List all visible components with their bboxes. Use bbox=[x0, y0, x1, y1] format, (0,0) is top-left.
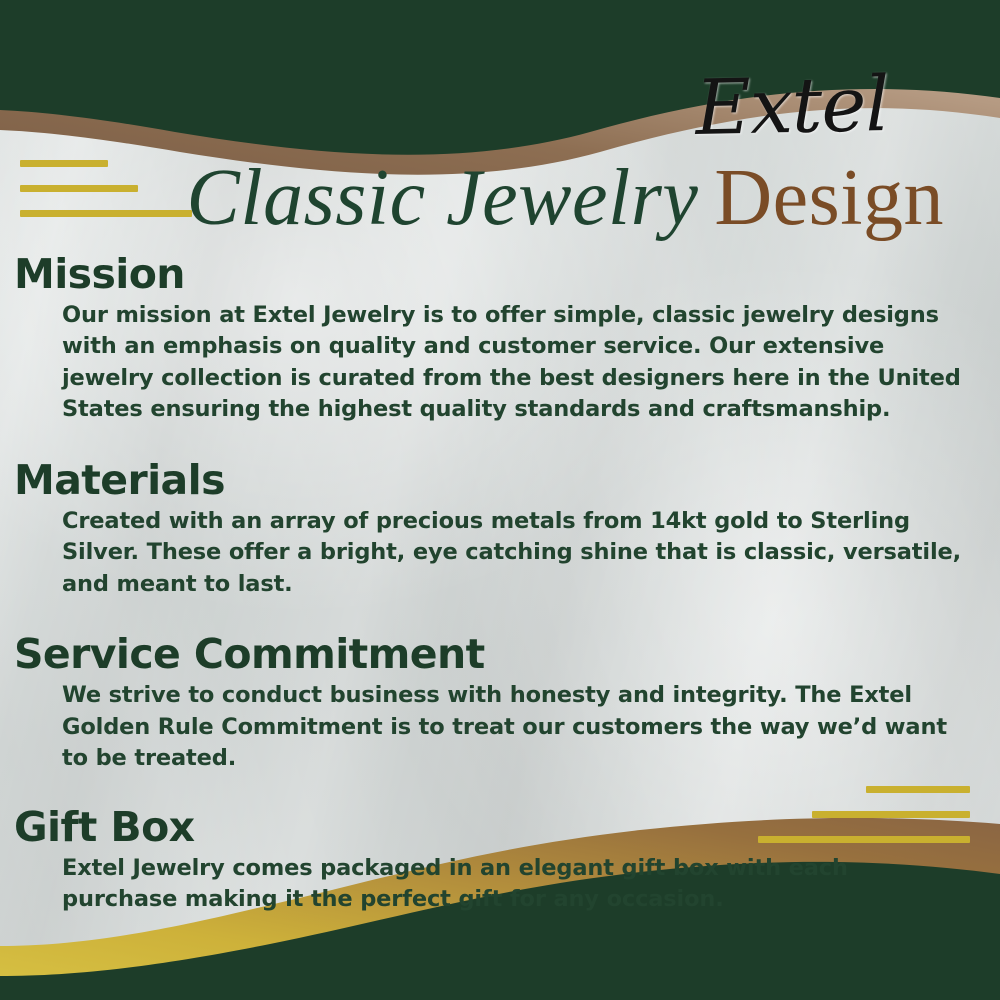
poster-canvas: Extel Classic JewelryDesign Mission Our … bbox=[0, 0, 1000, 1000]
section-body-materials: Created with an array of precious metals… bbox=[62, 506, 966, 601]
section-heading-mission: Mission bbox=[14, 252, 1000, 298]
gold-rule-line bbox=[758, 836, 970, 843]
page-title: Classic JewelryDesign bbox=[0, 158, 1000, 238]
section-body-mission: Our mission at Extel Jewelry is to offer… bbox=[62, 300, 966, 426]
section-heading-service-commitment: Service Commitment bbox=[14, 632, 1000, 678]
gold-rule-line bbox=[866, 786, 970, 793]
section-body-service-commitment: We strive to conduct business with hones… bbox=[62, 680, 966, 775]
brand-logo-extel: Extel bbox=[611, 64, 973, 148]
page-title-primary: Classic Jewelry bbox=[187, 154, 699, 242]
section-service-commitment: Service Commitment We strive to conduct … bbox=[0, 632, 1000, 774]
section-materials: Materials Created with an array of preci… bbox=[0, 458, 1000, 600]
bottom-right-gold-rules bbox=[0, 786, 970, 861]
section-mission: Mission Our mission at Extel Jewelry is … bbox=[0, 252, 1000, 426]
gold-rule-line bbox=[812, 811, 970, 818]
section-body-gift-box: Extel Jewelry comes packaged in an elega… bbox=[62, 853, 966, 916]
page-title-secondary: Design bbox=[714, 154, 944, 242]
section-heading-materials: Materials bbox=[14, 458, 1000, 504]
